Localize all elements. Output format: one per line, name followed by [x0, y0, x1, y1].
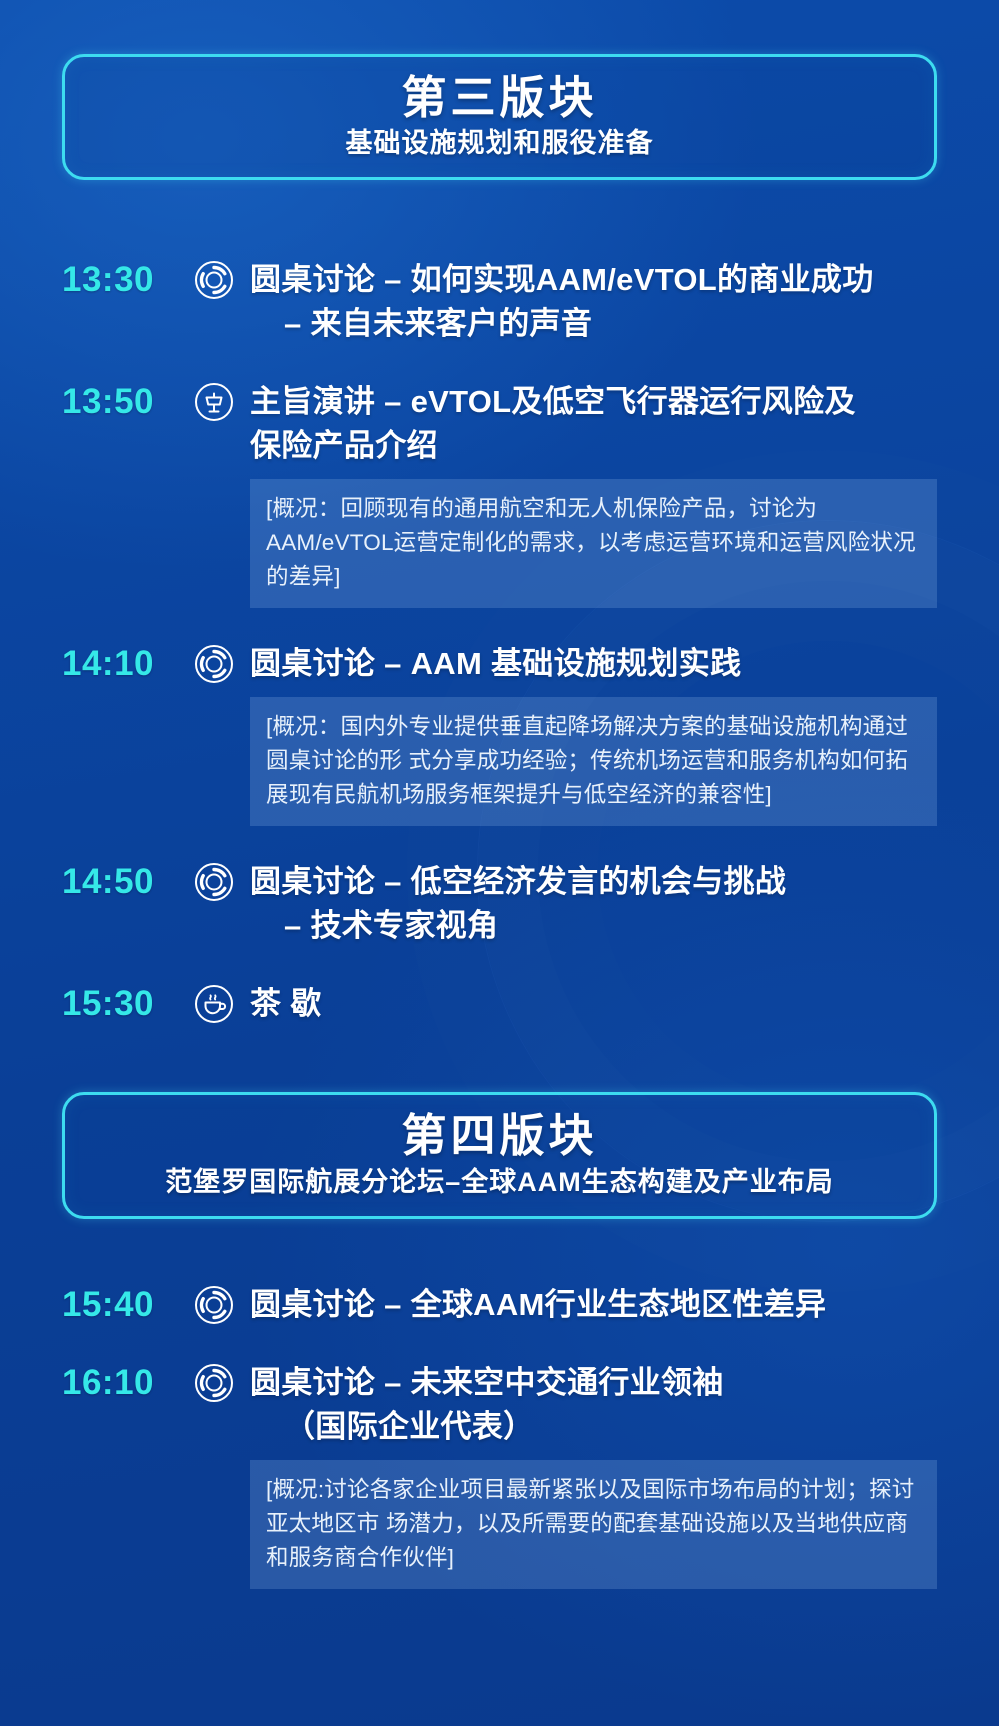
agenda-title-line: 保险产品介绍 [250, 424, 937, 468]
agenda-description: [概况：回顾现有的通用航空和无人机保险产品，讨论为AAM/eVTOL运营定制化的… [250, 479, 937, 608]
agenda-description: [概况:讨论各家企业项目最新紧张以及国际市场布局的计划；探讨亚太地区市 场潜力，… [250, 1460, 937, 1589]
agenda-title: 圆桌讨论 – 全球AAM行业生态地区性差异 [250, 1283, 937, 1327]
section-title: 第三版块 [91, 73, 908, 123]
agenda-description: [概况：国内外专业提供垂直起降场解决方案的基础设施机构通过圆桌讨论的形 式分享成… [250, 697, 937, 826]
agenda-body: 主旨演讲 – eVTOL及低空飞行器运行风险及 保险产品介绍 [概况：回顾现有的… [238, 380, 937, 608]
roundtable-icon [190, 642, 238, 686]
agenda-time: 16:10 [62, 1361, 190, 1405]
agenda-item[interactable]: 13:50 主旨演讲 – eVTOL及低空飞行器运行风险及 保险产品介绍 [62, 380, 937, 608]
agenda-title-line: （国际企业代表） [250, 1405, 937, 1449]
agenda-list-section-4: 15:40 圆桌讨论 – 全球AAM行业生态地区性差异 [0, 1283, 999, 1589]
agenda-time: 13:30 [62, 258, 190, 302]
agenda-item[interactable]: 15:40 圆桌讨论 – 全球AAM行业生态地区性差异 [62, 1283, 937, 1327]
agenda-title: 茶 歇 [250, 982, 937, 1026]
agenda-title-line: 圆桌讨论 – AAM 基础设施规划实践 [250, 642, 937, 686]
top-spacer [0, 0, 999, 54]
agenda-body: 圆桌讨论 – AAM 基础设施规划实践 [概况：国内外专业提供垂直起降场解决方案… [238, 642, 937, 826]
section-subtitle: 范堡罗国际航展分论坛–全球AAM生态构建及产业布局 [91, 1167, 908, 1198]
agenda-time: 14:50 [62, 860, 190, 904]
agenda-title-line: 圆桌讨论 – 全球AAM行业生态地区性差异 [250, 1283, 937, 1327]
agenda-body: 茶 歇 [238, 982, 937, 1026]
agenda-body: 圆桌讨论 – 未来空中交通行业领袖 （国际企业代表） [概况:讨论各家企业项目最… [238, 1361, 937, 1589]
agenda-title-line: 主旨演讲 – eVTOL及低空飞行器运行风险及 [250, 380, 937, 424]
agenda-item[interactable]: 14:50 圆桌讨论 – 低空经济发言的机会与挑战 – 技术专家视角 [62, 860, 937, 948]
roundtable-icon [190, 258, 238, 302]
spacer [0, 1026, 999, 1092]
agenda-time: 13:50 [62, 380, 190, 424]
section-title: 第四版块 [91, 1111, 908, 1161]
roundtable-icon [190, 1283, 238, 1327]
agenda-title: 圆桌讨论 – 低空经济发言的机会与挑战 – 技术专家视角 [250, 860, 937, 948]
agenda-item[interactable]: 15:30 茶 歇 [62, 982, 937, 1026]
section-banner-4: 第四版块 范堡罗国际航展分论坛–全球AAM生态构建及产业布局 [62, 1092, 937, 1218]
roundtable-icon [190, 1361, 238, 1405]
poster-content: 第三版块 基础设施规划和服役准备 13:30 [0, 0, 999, 1589]
agenda-description-text: [概况:讨论各家企业项目最新紧张以及国际市场布局的计划；探讨亚太地区市 场潜力，… [266, 1473, 921, 1575]
spacer [0, 180, 999, 224]
agenda-item[interactable]: 13:30 圆桌讨论 – 如何实现AAM/eVTOL的商业成功 – 来自未来客户… [62, 258, 937, 346]
agenda-description-text: [概况：回顾现有的通用航空和无人机保险产品，讨论为AAM/eVTOL运营定制化的… [266, 492, 921, 594]
agenda-title: 圆桌讨论 – 如何实现AAM/eVTOL的商业成功 – 来自未来客户的声音 [250, 258, 937, 346]
agenda-title-line: – 来自未来客户的声音 [250, 302, 937, 346]
section-subtitle: 基础设施规划和服役准备 [91, 128, 908, 159]
agenda-poster: 第三版块 基础设施规划和服役准备 13:30 [0, 0, 999, 1726]
agenda-title-line: – 技术专家视角 [250, 904, 937, 948]
agenda-title: 圆桌讨论 – AAM 基础设施规划实践 [250, 642, 937, 686]
agenda-body: 圆桌讨论 – 低空经济发言的机会与挑战 – 技术专家视角 [238, 860, 937, 948]
agenda-item[interactable]: 16:10 圆桌讨论 – 未来空中交通行业领袖 （国际企业代表） [62, 1361, 937, 1589]
agenda-description-text: [概况：国内外专业提供垂直起降场解决方案的基础设施机构通过圆桌讨论的形 式分享成… [266, 710, 921, 812]
podium-icon [190, 380, 238, 424]
agenda-body: 圆桌讨论 – 如何实现AAM/eVTOL的商业成功 – 来自未来客户的声音 [238, 258, 937, 346]
agenda-title-line: 圆桌讨论 – 未来空中交通行业领袖 [250, 1361, 937, 1405]
spacer [0, 1219, 999, 1249]
tea-cup-icon [190, 982, 238, 1026]
agenda-title: 主旨演讲 – eVTOL及低空飞行器运行风险及 保险产品介绍 [250, 380, 937, 468]
agenda-time: 15:30 [62, 982, 190, 1026]
agenda-time: 15:40 [62, 1283, 190, 1327]
section-banner-3: 第三版块 基础设施规划和服役准备 [62, 54, 937, 180]
agenda-title-line: 茶 歇 [250, 982, 937, 1026]
agenda-list-section-3: 13:30 圆桌讨论 – 如何实现AAM/eVTOL的商业成功 – 来自未来客户… [0, 258, 999, 1026]
agenda-body: 圆桌讨论 – 全球AAM行业生态地区性差异 [238, 1283, 937, 1327]
agenda-item[interactable]: 14:10 圆桌讨论 – AAM 基础设施规划实践 [概况 [62, 642, 937, 826]
agenda-title-line: 圆桌讨论 – 如何实现AAM/eVTOL的商业成功 [250, 258, 937, 302]
agenda-title: 圆桌讨论 – 未来空中交通行业领袖 （国际企业代表） [250, 1361, 937, 1449]
agenda-time: 14:10 [62, 642, 190, 686]
roundtable-icon [190, 860, 238, 904]
agenda-title-line: 圆桌讨论 – 低空经济发言的机会与挑战 [250, 860, 937, 904]
